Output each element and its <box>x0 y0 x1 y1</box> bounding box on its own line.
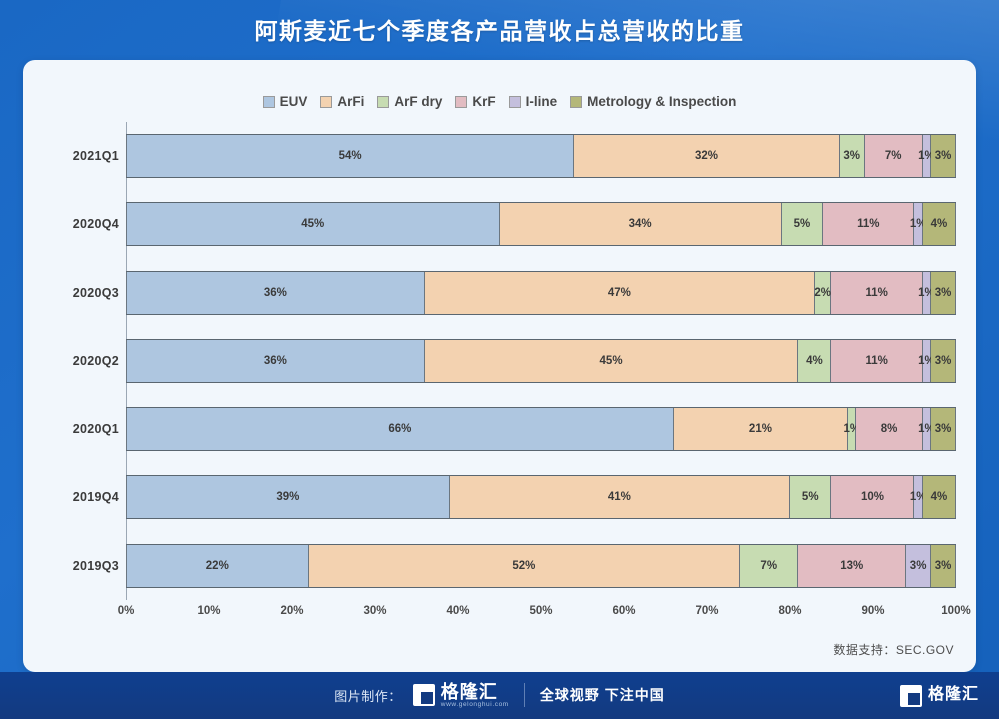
legend-label: I-line <box>526 94 558 109</box>
footer-slogan: 全球视野 下注中国 <box>540 685 665 705</box>
segment-value-label: 2% <box>814 287 831 299</box>
bar-segment[interactable]: 45% <box>126 203 500 245</box>
bar-segment[interactable]: 34% <box>500 203 782 245</box>
bar-segment[interactable]: 1% <box>848 408 856 450</box>
stacked-bar: 39%41%5%10%1%4% <box>126 475 956 519</box>
plot-area: 2021Q154%32%3%7%1%3%2020Q445%34%5%11%1%4… <box>103 122 956 600</box>
legend-item[interactable]: ArFi <box>320 94 364 109</box>
segment-value-label: 5% <box>802 491 819 503</box>
bar-segment[interactable]: 3% <box>931 545 956 587</box>
bar-segment[interactable]: 1% <box>923 408 931 450</box>
segment-value-label: 21% <box>749 423 772 435</box>
bar-segment[interactable]: 1% <box>923 340 931 382</box>
x-axis-tick-label: 90% <box>861 605 884 617</box>
bar-segment[interactable]: 4% <box>798 340 831 382</box>
gelonghui-logo-icon-small <box>900 685 922 707</box>
bar-segment[interactable]: 11% <box>823 203 914 245</box>
legend-swatch-icon <box>570 96 582 108</box>
footer-brand-url: www.gelonghui.com <box>441 701 509 708</box>
bar-segment[interactable]: 8% <box>856 408 922 450</box>
segment-value-label: 11% <box>865 355 887 367</box>
bar-segment[interactable]: 4% <box>923 203 956 245</box>
page-header: 阿斯麦近七个季度各产品营收占总营收的比重 <box>0 0 999 58</box>
bar-segment[interactable]: 45% <box>425 340 799 382</box>
bar-segment[interactable]: 1% <box>914 203 922 245</box>
segment-value-label: 52% <box>512 560 535 572</box>
bar-segment[interactable]: 47% <box>425 272 815 314</box>
x-axis-tick-label: 100% <box>941 605 970 617</box>
bar-segment[interactable]: 36% <box>126 272 425 314</box>
segment-value-label: 47% <box>608 287 631 299</box>
row-category-label: 2019Q3 <box>47 559 119 573</box>
bar-segment[interactable]: 3% <box>931 135 956 177</box>
footer-divider <box>524 683 525 707</box>
legend-swatch-icon <box>509 96 521 108</box>
segment-value-label: 45% <box>301 218 324 230</box>
segment-value-label: 36% <box>264 355 287 367</box>
legend-label: KrF <box>472 94 495 109</box>
source-note: 数据支持：SEC.GOV <box>833 641 954 658</box>
row-category-label: 2020Q4 <box>47 217 119 231</box>
stacked-bar: 22%52%7%13%3%3% <box>126 544 956 588</box>
legend-item[interactable]: I-line <box>509 94 558 109</box>
stacked-bar: 36%47%2%11%1%3% <box>126 271 956 315</box>
x-axis-tick-label: 20% <box>280 605 303 617</box>
footer-brand-text: 格隆汇 www.gelonghui.com <box>441 683 509 709</box>
segment-value-label: 45% <box>600 355 623 367</box>
legend-item[interactable]: Metrology & Inspection <box>570 94 736 109</box>
row-category-label: 2021Q1 <box>47 149 119 163</box>
bar-segment[interactable]: 10% <box>831 476 914 518</box>
footer-made-by-label: 图片制作： <box>334 686 402 705</box>
bar-segment[interactable]: 1% <box>923 272 931 314</box>
row-category-label: 2019Q4 <box>47 490 119 504</box>
bar-segment[interactable]: 66% <box>126 408 674 450</box>
x-axis-tick-label: 80% <box>778 605 801 617</box>
bar-segment[interactable]: 3% <box>840 135 865 177</box>
bar-segment[interactable]: 32% <box>574 135 840 177</box>
bar-segment[interactable]: 41% <box>450 476 790 518</box>
footer-right-brand: 格隆汇 <box>900 685 979 707</box>
legend-label: ArFi <box>337 94 364 109</box>
segment-value-label: 3% <box>935 560 952 572</box>
segment-value-label: 3% <box>935 423 952 435</box>
x-axis-tick-label: 60% <box>612 605 635 617</box>
chart-page: 阿斯麦近七个季度各产品营收占总营收的比重 EUVArFiArF dryKrFI-… <box>0 0 999 719</box>
chart-row: 2020Q445%34%5%11%1%4% <box>126 190 956 258</box>
segment-value-label: 11% <box>857 218 879 230</box>
bar-segment[interactable]: 39% <box>126 476 450 518</box>
chart-row: 2020Q166%21%1%8%1%3% <box>126 395 956 463</box>
row-category-label: 2020Q2 <box>47 354 119 368</box>
page-title: 阿斯麦近七个季度各产品营收占总营收的比重 <box>255 12 745 46</box>
footer-brand-name: 格隆汇 <box>441 683 509 702</box>
chart-row: 2019Q322%52%7%13%3%3% <box>126 532 956 600</box>
bar-segment[interactable]: 3% <box>931 408 956 450</box>
segment-value-label: 3% <box>935 355 952 367</box>
segment-value-label: 7% <box>760 560 777 572</box>
segment-value-label: 54% <box>339 150 362 162</box>
segment-value-label: 3% <box>935 287 952 299</box>
segment-value-label: 4% <box>931 218 948 230</box>
x-axis-tick-label: 50% <box>529 605 552 617</box>
bar-segment[interactable]: 22% <box>126 545 309 587</box>
segment-value-label: 66% <box>388 423 411 435</box>
x-axis-tick-label: 30% <box>363 605 386 617</box>
legend-swatch-icon <box>263 96 275 108</box>
legend-swatch-icon <box>455 96 467 108</box>
segment-value-label: 36% <box>264 287 287 299</box>
stacked-bar: 45%34%5%11%1%4% <box>126 202 956 246</box>
x-axis-tick-label: 70% <box>695 605 718 617</box>
bar-segment[interactable]: 13% <box>798 545 906 587</box>
stacked-bar: 54%32%3%7%1%3% <box>126 134 956 178</box>
chart-legend: EUVArFiArF dryKrFI-lineMetrology & Inspe… <box>23 94 976 109</box>
segment-value-label: 3% <box>910 560 927 572</box>
segment-value-label: 10% <box>861 491 884 503</box>
bar-segment[interactable]: 11% <box>831 340 922 382</box>
bar-segment[interactable]: 7% <box>865 135 923 177</box>
chart-row: 2021Q154%32%3%7%1%3% <box>126 122 956 190</box>
bar-segment[interactable]: 54% <box>126 135 574 177</box>
segment-value-label: 39% <box>276 491 299 503</box>
segment-value-label: 7% <box>885 150 902 162</box>
chart-row: 2019Q439%41%5%10%1%4% <box>126 463 956 531</box>
footer-brand: 格隆汇 www.gelonghui.com <box>413 683 509 709</box>
stacked-bar: 36%45%4%11%1%3% <box>126 339 956 383</box>
footer-center-group: 图片制作： 格隆汇 www.gelonghui.com 全球视野 下注中国 <box>0 683 999 709</box>
bar-segment[interactable]: 1% <box>923 135 931 177</box>
legend-swatch-icon <box>320 96 332 108</box>
bar-rows: 2021Q154%32%3%7%1%3%2020Q445%34%5%11%1%4… <box>126 122 956 600</box>
bar-segment[interactable]: 52% <box>309 545 741 587</box>
bar-segment[interactable]: 36% <box>126 340 425 382</box>
segment-value-label: 3% <box>843 150 860 162</box>
chart-row: 2020Q336%47%2%11%1%3% <box>126 259 956 327</box>
legend-label: ArF dry <box>394 94 442 109</box>
legend-item[interactable]: ArF dry <box>377 94 442 109</box>
row-category-label: 2020Q1 <box>47 422 119 436</box>
bar-segment[interactable]: 1% <box>914 476 922 518</box>
bar-segment[interactable]: 11% <box>831 272 922 314</box>
segment-value-label: 32% <box>695 150 718 162</box>
bar-segment[interactable]: 5% <box>790 476 832 518</box>
x-axis-tick-label: 40% <box>446 605 469 617</box>
legend-label: Metrology & Inspection <box>587 94 736 109</box>
bar-segment[interactable]: 5% <box>782 203 824 245</box>
segment-value-label: 34% <box>629 218 652 230</box>
segment-value-label: 41% <box>608 491 631 503</box>
x-axis-tick-label: 10% <box>197 605 220 617</box>
segment-value-label: 4% <box>931 491 948 503</box>
bar-segment[interactable]: 3% <box>931 272 956 314</box>
gelonghui-logo-icon <box>413 684 435 706</box>
legend-swatch-icon <box>377 96 389 108</box>
chart-row: 2020Q236%45%4%11%1%3% <box>126 327 956 395</box>
segment-value-label: 11% <box>865 287 887 299</box>
bar-segment[interactable]: 4% <box>923 476 956 518</box>
bar-segment[interactable]: 2% <box>815 272 832 314</box>
chart-card: EUVArFiArF dryKrFI-lineMetrology & Inspe… <box>23 60 976 672</box>
segment-value-label: 3% <box>935 150 952 162</box>
segment-value-label: 5% <box>794 218 811 230</box>
legend-item[interactable]: EUV <box>263 94 308 109</box>
legend-label: EUV <box>280 94 308 109</box>
segment-value-label: 8% <box>881 423 898 435</box>
row-category-label: 2020Q3 <box>47 286 119 300</box>
x-axis-tick-label: 0% <box>118 605 135 617</box>
x-axis: 0%10%20%30%40%50%60%70%80%90%100% <box>103 605 956 625</box>
segment-value-label: 22% <box>206 560 229 572</box>
bar-segment[interactable]: 7% <box>740 545 798 587</box>
bar-segment[interactable]: 3% <box>906 545 931 587</box>
bar-segment[interactable]: 3% <box>931 340 956 382</box>
segment-value-label: 13% <box>840 560 863 572</box>
page-footer: 图片制作： 格隆汇 www.gelonghui.com 全球视野 下注中国 格隆… <box>0 672 999 719</box>
segment-value-label: 4% <box>806 355 823 367</box>
legend-item[interactable]: KrF <box>455 94 495 109</box>
bar-segment[interactable]: 21% <box>674 408 848 450</box>
stacked-bar: 66%21%1%8%1%3% <box>126 407 956 451</box>
footer-right-brand-name: 格隆汇 <box>928 687 979 704</box>
